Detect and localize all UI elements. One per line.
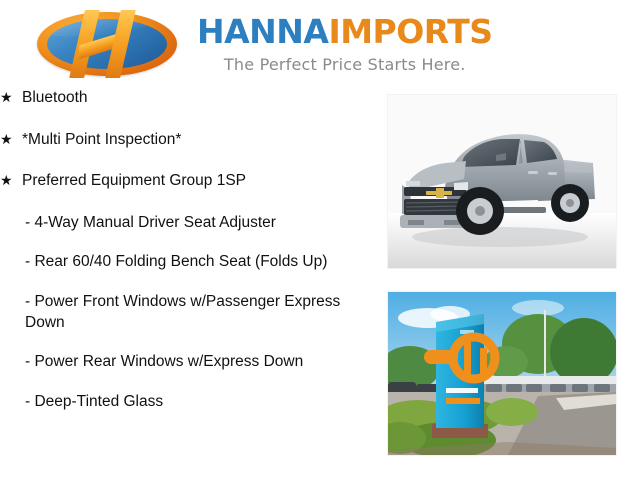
feature-sub-item: - Power Front Windows w/Passenger Expres… [0,292,372,333]
feature-sub-item: - Deep-Tinted Glass [0,392,372,413]
feature-item-label: - Power Front Windows w/Passenger Expres… [25,292,372,333]
star-bullet-icon: ★ [0,130,22,149]
star-bullet-icon: ★ [0,88,22,107]
vehicle-feature-list: ★Bluetooth★*Multi Point Inspection*★Pref… [0,88,372,480]
feature-item: ★Preferred Equipment Group 1SP [0,171,372,192]
feature-item-label: Preferred Equipment Group 1SP [22,171,372,192]
brand-header: HANNAIMPORTS The Perfect Price Starts He… [0,0,640,86]
vehicle-photo-graphic [388,95,616,268]
vehicle-photo[interactable] [388,95,616,268]
feature-item-label: - Deep-Tinted Glass [25,392,372,413]
feature-item-label: - 4-Way Manual Driver Seat Adjuster [25,213,372,234]
feature-item: ★*Multi Point Inspection* [0,130,372,151]
feature-item: ★Bluetooth [0,88,372,109]
feature-item-label: *Multi Point Inspection* [22,130,372,151]
brand-lockup: HANNAIMPORTS The Perfect Price Starts He… [33,8,493,80]
brand-wordmark: HANNAIMPORTS [197,15,493,48]
feature-item-label: - Rear 60/40 Folding Bench Seat (Folds U… [25,252,372,273]
feature-item-label: - Power Rear Windows w/Express Down [25,352,372,373]
feature-sub-item: - 4-Way Manual Driver Seat Adjuster [0,213,372,234]
dealership-photo[interactable] [388,292,616,455]
feature-sub-item: - Power Rear Windows w/Express Down [0,352,372,373]
dealership-photo-graphic [388,292,616,455]
brand-tagline: The Perfect Price Starts Here. [197,55,493,74]
brand-text-block: HANNAIMPORTS The Perfect Price Starts He… [197,15,493,74]
wordmark-hanna: HANNA [197,12,328,51]
wordmark-imports: IMPORTS [328,12,492,51]
feature-sub-item: - Rear 60/40 Folding Bench Seat (Folds U… [0,252,372,273]
feature-item-label: Bluetooth [22,88,372,109]
star-bullet-icon: ★ [0,171,22,190]
hanna-h-oval-logo-icon [33,8,181,80]
